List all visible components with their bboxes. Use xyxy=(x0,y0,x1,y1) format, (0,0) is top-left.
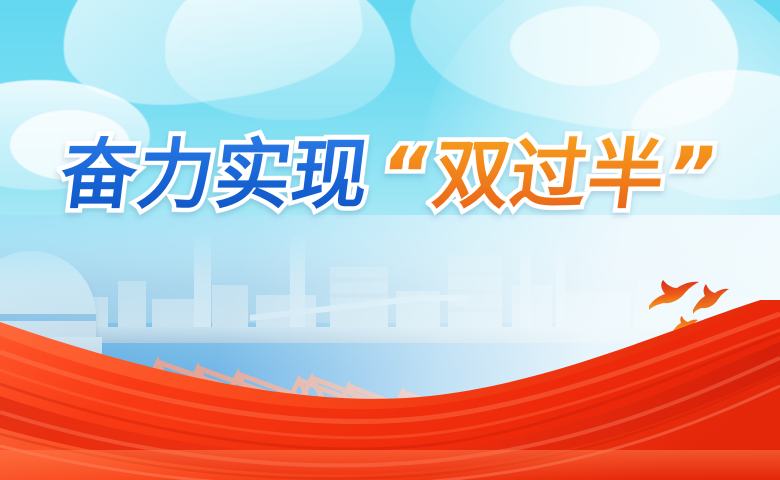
quote-open-text: “ xyxy=(375,132,437,218)
quote-close-text: ” xyxy=(661,132,723,218)
headline-orange-segment: 双过半 双过半 xyxy=(428,132,670,218)
promotional-banner: 奋力实现 奋力实现 “ “ 双过半 双过半 ” ” xyxy=(0,0,780,480)
cloud-shape xyxy=(510,6,660,86)
quote-close: ” ” xyxy=(661,132,723,218)
headline-blue-text: 奋力实现 xyxy=(55,132,374,218)
quote-open: “ “ xyxy=(375,132,437,218)
headline-orange-text: 双过半 xyxy=(428,132,670,218)
headline: 奋力实现 奋力实现 “ “ 双过半 双过半 ” ” xyxy=(0,132,780,218)
headline-blue-segment: 奋力实现 奋力实现 xyxy=(55,132,374,218)
red-silk-ribbon xyxy=(0,300,780,480)
